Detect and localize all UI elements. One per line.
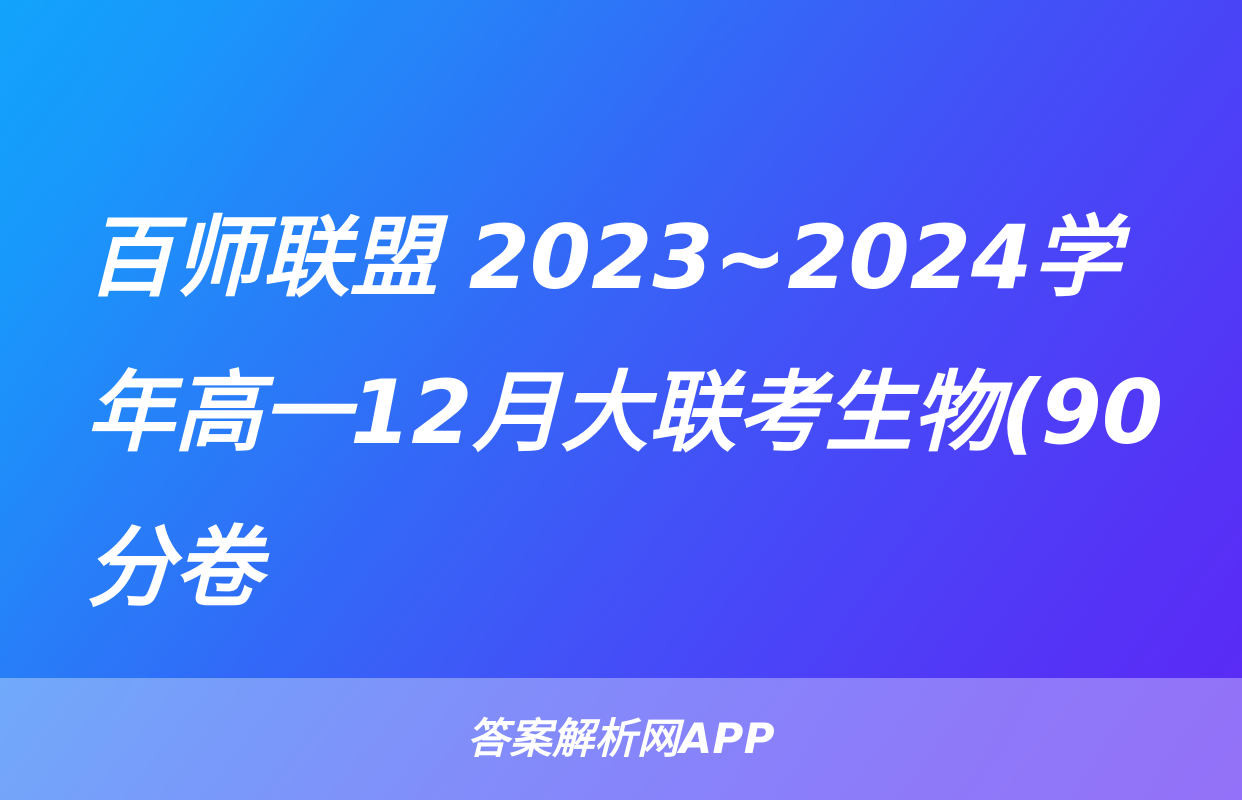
title-block: 百师联盟 2023~2024学年高一12月大联考生物(90分卷: [86, 180, 1166, 645]
poster-canvas: 百师联盟 2023~2024学年高一12月大联考生物(90分卷 答案解析网APP: [0, 0, 1242, 800]
watermark-band: 答案解析网APP: [0, 678, 1242, 800]
page-title: 百师联盟 2023~2024学年高一12月大联考生物(90分卷: [86, 180, 1166, 645]
watermark-label: 答案解析网APP: [467, 718, 775, 760]
